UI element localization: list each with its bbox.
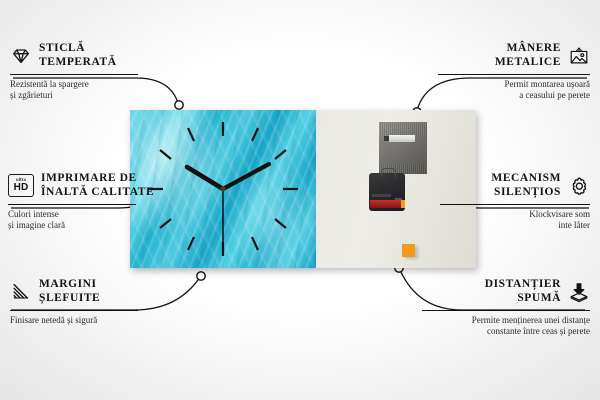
feature-rule [8,204,136,205]
feature-tempered-glass: STICLĂ TEMPERATĂ Rezistentă la spargere … [10,42,170,101]
feature-title: STICLĂ TEMPERATĂ [39,42,117,69]
feature-rule [438,74,590,75]
feature-subtitle: Rezistentă la spargere și zgârieturi [10,79,170,101]
foam-spacer-square [402,244,415,257]
picture-frame-icon [568,45,590,67]
gear-icon [568,175,590,197]
diamond-icon [10,45,32,67]
feature-subtitle: Finisare netedă și sigură [10,315,180,326]
clock-center-cap [220,186,225,191]
feature-rule [10,310,138,311]
feature-subtitle: Permit montarea ușoară a ceasului pe per… [430,79,590,101]
ultra-hd-large-text: HD [14,183,29,193]
feature-title: MARGINI ȘLEFUITE [39,278,100,305]
feature-subtitle: Permite menținerea unei distanțe constan… [420,315,590,337]
feature-title: MECANISM SILENȚIOS [491,172,561,199]
mechanism-hook [381,168,396,177]
ultra-hd-icon: ultra HD [8,174,34,197]
hour-hand [187,167,223,189]
feature-polished-edges: MARGINI ȘLEFUITE Finisare netedă și sigu… [10,278,180,326]
endpoint-polished-edges [197,272,205,280]
feature-subtitle: Culori intense și imagine clară [8,209,178,231]
feature-metal-handles: MÂNERE METALICE Permit montarea ușoară a… [430,42,590,101]
quartz-mechanism [369,173,405,211]
feature-title: IMPRIMARE DE ÎNALTĂ CALITATE [41,172,154,199]
feature-title: DISTANȚIER SPUMĂ [485,278,561,305]
down-arrow-pad-icon [568,281,590,303]
feature-title: MÂNERE METALICE [495,42,561,69]
feature-rule [422,310,590,311]
battery [370,200,404,208]
feature-rule [10,74,138,75]
feature-rule [440,204,590,205]
metal-hanger-swatch [379,122,427,174]
feature-silent-mechanism: MECANISM SILENȚIOS Klockvisare som inte … [436,172,590,231]
minute-hand [223,164,269,189]
endpoint-tempered-glass [175,101,183,109]
infographic-stage: STICLĂ TEMPERATĂ Rezistentă la spargere … [0,0,600,400]
feature-hq-print: ultra HD IMPRIMARE DE ÎNALTĂ CALITATE Cu… [8,172,178,231]
polished-edges-icon [10,281,32,303]
feature-subtitle: Klockvisare som inte låter [436,209,590,231]
feature-foam-spacer: DISTANȚIER SPUMĂ Permite menținerea unei… [420,278,590,337]
